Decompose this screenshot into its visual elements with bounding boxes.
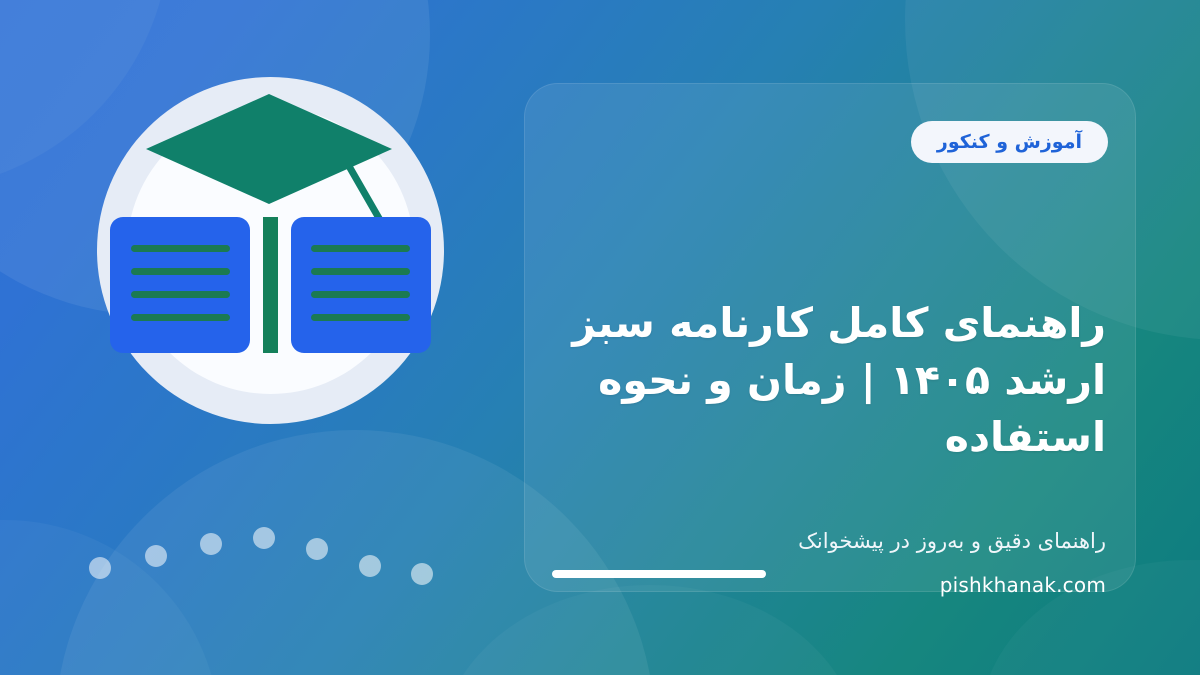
book-right-page — [291, 217, 431, 353]
decorative-dot — [145, 545, 167, 567]
graduation-cap-and-open-book-icon — [97, 77, 444, 424]
decorative-dot — [253, 527, 275, 549]
background-blob — [0, 520, 220, 675]
page-title: راهنمای کامل کارنامه سبز ارشد ۱۴۰۵ | زما… — [554, 295, 1106, 465]
accent-bar — [552, 570, 766, 578]
decorative-dot — [89, 557, 111, 579]
decorative-dot — [306, 538, 328, 560]
graduation-cap-icon — [146, 94, 392, 204]
page-subtitle: راهنمای دقیق و به‌روز در پیشخوانک — [554, 526, 1106, 558]
book-left-page — [110, 217, 250, 353]
decorative-dot — [200, 533, 222, 555]
emblem — [97, 77, 444, 424]
decorative-dot — [359, 555, 381, 577]
content-card: آموزش و کنکور راهنمای کامل کارنامه سبز ا… — [524, 83, 1136, 592]
background-blob — [440, 585, 860, 675]
decorative-dot — [411, 563, 433, 585]
book-spine — [263, 217, 278, 353]
cover-canvas: آموزش و کنکور راهنمای کامل کارنامه سبز ا… — [0, 0, 1200, 675]
category-badge[interactable]: آموزش و کنکور — [911, 121, 1108, 163]
